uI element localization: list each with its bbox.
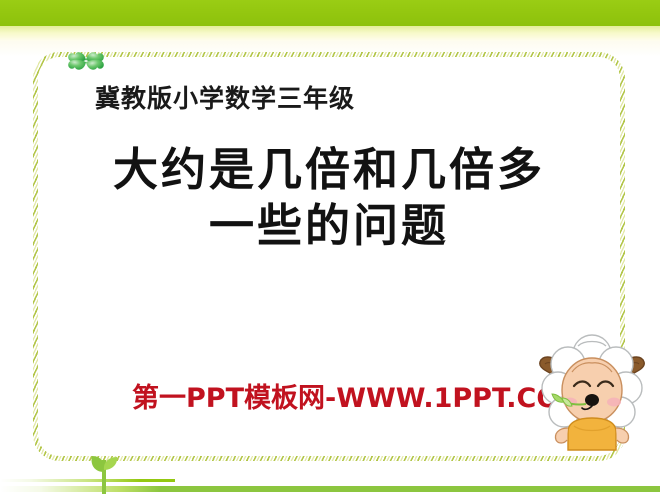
top-pale-band — [0, 26, 660, 41]
title-line-1: 大约是几倍和几倍多 — [33, 142, 625, 198]
page-title: 大约是几倍和几倍多 一些的问题 — [33, 142, 625, 254]
four-leaf-clover-icon — [66, 41, 106, 81]
sheep-mascot-icon — [534, 328, 650, 456]
presentation-slide: 冀教版小学数学三年级 大约是几倍和几倍多 一些的问题 第一PPT模板网-WWW.… — [0, 0, 660, 495]
sprout-icon — [84, 452, 124, 494]
title-line-2: 一些的问题 — [33, 198, 625, 254]
top-green-band — [0, 0, 660, 26]
watermark-text: 第一PPT模板网-WWW.1PPT.COM — [132, 376, 586, 415]
subject-line: 冀教版小学数学三年级 — [95, 79, 355, 115]
